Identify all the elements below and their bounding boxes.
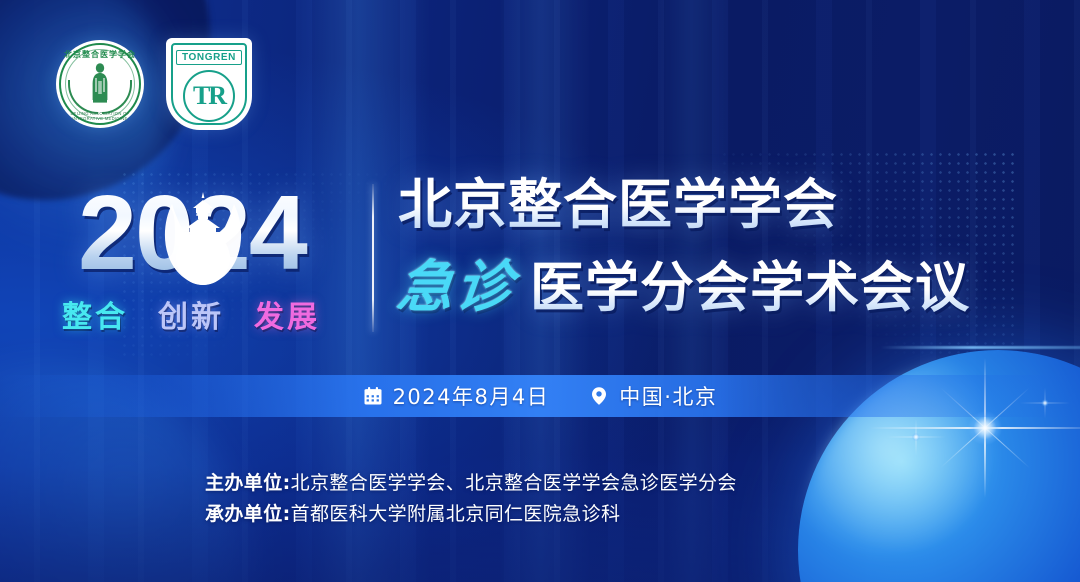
organizer-line-2: 承办单位:首都医科大学附属北京同仁医院急诊科 [205, 499, 737, 530]
year-text: 2024 [78, 180, 348, 286]
organizer-block: 主办单位:北京整合医学学会、北京整合医学学会急诊医学分会 承办单位:首都医科大学… [205, 468, 737, 530]
organizer-value-1: 北京整合医学学会、北京整合医学学会急诊医学分会 [291, 472, 737, 494]
conference-title-line-2: 急诊 医学分会学术会议 [398, 242, 970, 323]
slogan-group: 整合 创新 发展 [62, 292, 320, 336]
tongren-monogram-circle: TR [183, 70, 235, 122]
tongren-wordmark: TONGREN [176, 50, 242, 65]
logo-group: 北京整合医学学会 BEIJING ASSOCIATION OF INTEGRAT… [56, 38, 252, 130]
slogan-word-1: 整合 [62, 292, 128, 336]
title-block: 北京整合医学学会 急诊 医学分会学术会议 [398, 176, 970, 323]
organizer-value-2: 首都医科大学附属北京同仁医院急诊科 [291, 503, 621, 525]
event-location-text: 中国·北京 [619, 381, 717, 411]
vertical-divider [372, 184, 374, 332]
location-pin-icon [589, 386, 609, 406]
tongren-monogram: TR [193, 83, 225, 109]
conference-banner: 北京整合医学学会 BEIJING ASSOCIATION OF INTEGRAT… [0, 0, 1080, 582]
event-date-text: 2024年8月4日 [393, 381, 550, 411]
slogan-word-3: 发展 [254, 292, 320, 336]
conference-title-line-2-rest: 医学分会学术会议 [530, 259, 970, 317]
physician-figure-icon [89, 62, 111, 106]
conference-title-line-1: 北京整合医学学会 [398, 176, 970, 234]
organizer-label-1: 主办单位: [205, 472, 291, 494]
emergency-brush-text: 急诊 [394, 242, 519, 323]
event-location-item: 中国·北京 [589, 381, 717, 411]
tongren-hospital-logo: TONGREN TR [166, 38, 252, 130]
calendar-icon [363, 386, 383, 406]
hero-section: 2024 整合 创新 发展 北京整合医学学会 急诊 [0, 176, 1080, 346]
beijing-integrative-medicine-association-logo: 北京整合医学学会 BEIJING ASSOCIATION OF INTEGRAT… [56, 40, 144, 128]
slogan-word-2: 创新 [158, 292, 224, 336]
logo-english-name: BEIJING ASSOCIATION OF INTEGRATIVE MEDIC… [56, 111, 144, 121]
year-block: 2024 [78, 180, 348, 286]
event-date-item: 2024年8月4日 [363, 381, 550, 411]
logo-chinese-name: 北京整合医学学会 [56, 49, 144, 60]
organizer-line-1: 主办单位:北京整合医学学会、北京整合医学学会急诊医学分会 [205, 468, 737, 499]
horizon-beam [880, 346, 1080, 349]
organizer-label-2: 承办单位: [205, 503, 291, 525]
event-meta-bar: 2024年8月4日 中国·北京 [0, 375, 1080, 417]
